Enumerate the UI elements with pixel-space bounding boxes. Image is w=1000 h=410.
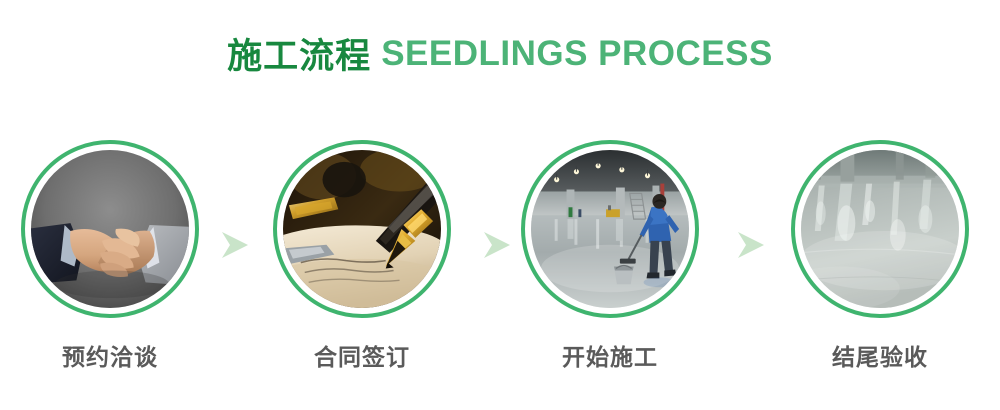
step-3-label: 开始施工: [510, 346, 710, 369]
step-3-circle-frame: [521, 140, 699, 318]
step-1-circle-frame: [21, 140, 199, 318]
process-step-2[interactable]: 合同签订: [262, 140, 462, 369]
process-steps: 预约洽谈: [0, 140, 1000, 390]
process-step-3[interactable]: 开始施工: [510, 140, 710, 369]
process-step-4[interactable]: 结尾验收: [780, 140, 980, 369]
step-2-circle-frame: [273, 140, 451, 318]
page-title: 施工流程SEEDLINGS PROCESS: [0, 28, 1000, 79]
arrow-2-icon: [480, 228, 514, 262]
handshake-photo: [31, 150, 189, 308]
page-title-english: SEEDLINGS PROCESS: [381, 34, 773, 73]
contract-signing-photo: [283, 150, 441, 308]
arrow-1-icon: [218, 228, 252, 262]
arrow-3-icon: [734, 228, 768, 262]
construction-worker-photo: [531, 150, 689, 308]
step-1-label: 预约洽谈: [10, 346, 210, 369]
finished-floor-photo: [801, 150, 959, 308]
page-title-chinese: 施工流程: [227, 37, 371, 76]
process-step-1[interactable]: 预约洽谈: [10, 140, 210, 369]
step-4-circle-frame: [791, 140, 969, 318]
step-2-label: 合同签订: [262, 346, 462, 369]
step-4-label: 结尾验收: [780, 346, 980, 369]
